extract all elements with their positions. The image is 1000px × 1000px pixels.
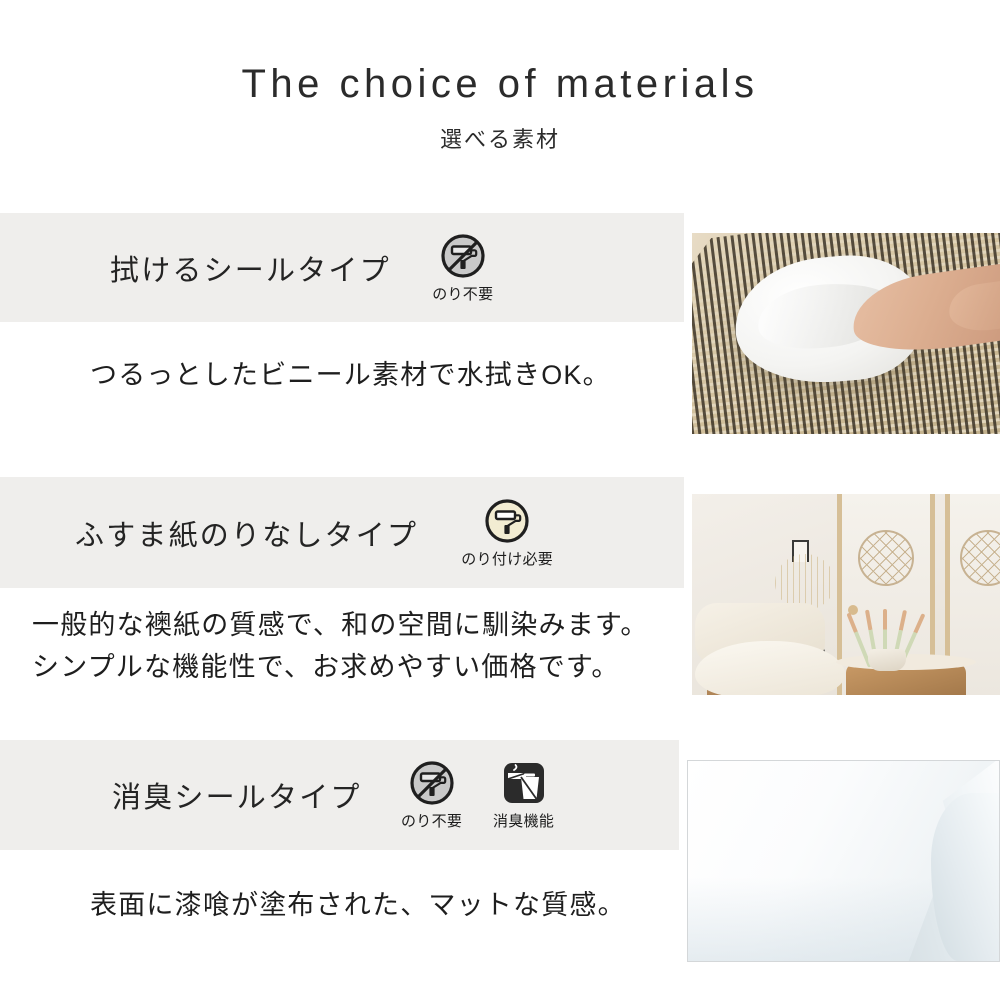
- section-2-band: ふすま紙のりなしタイプ のり付け必要: [0, 477, 684, 588]
- section-1-description: つるっとしたビニール素材で水拭きOK。: [90, 355, 611, 397]
- section-3-description: 表面に漆喰が塗布された、マットな質感。: [90, 885, 626, 927]
- section-3-badges: のり不要 消臭機能: [396, 759, 566, 831]
- section-3-band: 消臭シールタイプ のり不要: [0, 740, 679, 850]
- badge-glue-required: のり付け必要: [448, 497, 566, 569]
- badge-glue-required-label: のり付け必要: [461, 548, 553, 569]
- section-3-title: 消臭シールタイプ: [112, 774, 362, 816]
- plant-pot: [868, 649, 906, 671]
- section-1-title: 拭けるシールタイプ: [110, 247, 391, 289]
- section-1-band: 拭けるシールタイプ のり不要: [0, 213, 684, 322]
- badge-no-glue-2: のり不要: [396, 759, 468, 831]
- deodorizing-function-icon: [500, 759, 548, 807]
- materials-choice-page: The choice of materials 選べる素材 拭けるシールタイプ: [0, 0, 1000, 1000]
- page-subtitle: 選べる素材: [0, 122, 1000, 154]
- badge-deodorizing-label: 消臭機能: [493, 810, 554, 831]
- page-title: The choice of materials: [0, 62, 1000, 106]
- section-2-description: 一般的な襖紙の質感で、和の空間に馴染みます。 シンプルな機能性で、お求めやすい価…: [32, 605, 649, 689]
- section-2-badges: のり付け必要: [448, 497, 566, 569]
- paper-lantern-lamp: [775, 554, 835, 610]
- badge-deodorizing: 消臭機能: [482, 759, 566, 831]
- no-glue-roller-icon: [408, 759, 456, 807]
- japanese-interior-photo: [692, 494, 1000, 695]
- badge-no-glue: のり不要: [427, 232, 499, 304]
- no-glue-roller-icon: [439, 232, 487, 280]
- badge-no-glue-label-2: のり不要: [401, 810, 462, 831]
- badge-no-glue-label: のり不要: [432, 283, 493, 304]
- towel-wiping-rattan-photo: [692, 233, 1000, 434]
- section-1-badges: のり不要: [427, 232, 499, 304]
- glue-required-roller-icon: [483, 497, 531, 545]
- section-2-title: ふすま紙のりなしタイプ: [75, 512, 418, 554]
- white-curled-sheet-photo: [687, 760, 1000, 962]
- page-header: The choice of materials 選べる素材: [0, 0, 1000, 154]
- side-table: [846, 663, 966, 695]
- sheet-curl-edge: [931, 793, 999, 961]
